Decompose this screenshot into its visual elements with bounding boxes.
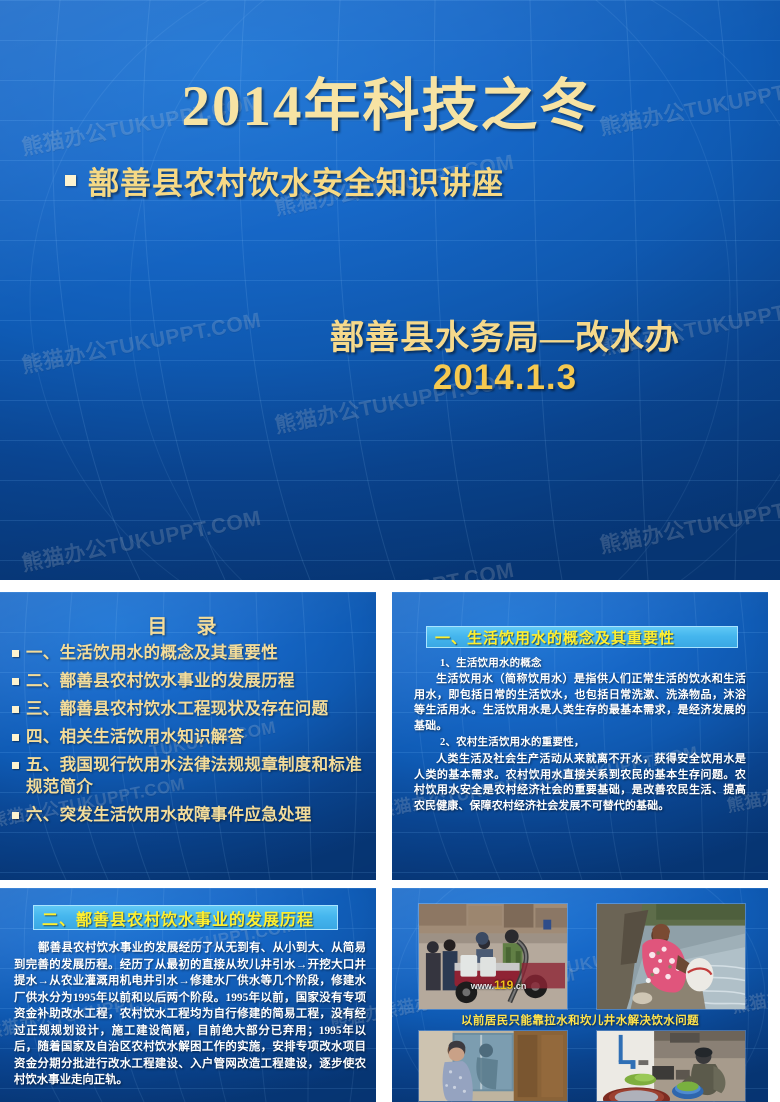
slide-3-heading-2: 2、农村生活饮用水的重要性， (440, 735, 740, 750)
square-bullet-icon (12, 812, 19, 819)
slide-3-section-header-label: 一、生活饮用水的概念及其重要性 (435, 627, 675, 648)
list-item[interactable]: 四、相关生活饮用水知识解答 (12, 726, 368, 747)
list-item[interactable]: 一、生活饮用水的概念及其重要性 (12, 642, 368, 663)
watermark: 熊猫办公TUKUPPT.COM (597, 484, 780, 560)
photo-water-hauling: www.119.cn (418, 903, 568, 1010)
list-item-label: 六、突发生活饮用水故障事件应急处理 (26, 804, 312, 825)
slide-3-paragraph-1: 生活饮用水（简称饮用水）是指供人们正常生活的饮水和生活用水，即包括日常的生活饮水… (414, 672, 746, 734)
slide-1-subtitle: 鄯善县农村饮水安全知识讲座 (88, 158, 504, 203)
list-item-label: 三、鄯善县农村饮水工程现状及存在问题 (26, 698, 328, 719)
list-item-label: 二、鄯善县农村饮水事业的发展历程 (26, 670, 295, 691)
slide-1-date: 2014.1.3 (290, 358, 720, 398)
slide-3-section-one[interactable]: TUKUPPT.COM 熊猫办公TUKUPPT.COM 熊猫办公TUKUPPT.… (392, 592, 768, 880)
slide-4-section-two[interactable]: TUKUPPT.COM 熊猫办公TUKUPPT.COM 熊猫办公TUKUPPT.… (0, 888, 376, 1102)
photo-tap-washing-vegetables (596, 1030, 746, 1102)
slide-2-contents-list: 一、生活饮用水的概念及其重要性 二、鄯善县农村饮水事业的发展历程 三、鄯善县农村… (12, 642, 368, 832)
watermark: 熊猫办公TUKUPPT.COM (19, 502, 263, 578)
stamp-suffix: .cn (513, 981, 526, 991)
watermark: 熊猫办公TUKUPPT.COM (272, 554, 516, 580)
slide-5-photo-caption: 以前居民只能靠拉水和坎儿井水解决饮水问题 (392, 1012, 768, 1028)
slide-3-section-header-bar: 一、生活饮用水的概念及其重要性 (426, 626, 738, 648)
slide-1-title-slide[interactable]: 熊猫办公TUKUPPT.COM 熊猫办公TUKUPPT.COM 熊猫办公TUKU… (0, 0, 780, 580)
photo-woman-indoors (418, 1030, 568, 1102)
stamp-number: 119 (494, 978, 513, 992)
list-item-label: 一、生活饮用水的概念及其重要性 (26, 642, 278, 663)
square-bullet-icon (12, 650, 19, 657)
slide-1-subtitle-row: 鄯善县农村饮水安全知识讲座 (65, 158, 504, 203)
ppt-preview-page: 熊猫办公TUKUPPT.COM 熊猫办公TUKUPPT.COM 熊猫办公TUKU… (0, 0, 780, 1102)
slide-1-title: 2014年科技之冬 (0, 60, 780, 142)
slide-3-heading-1: 1、生活饮用水的概念 (440, 656, 740, 671)
slide-4-section-header-label: 二、鄯善县农村饮水事业的发展历程 (42, 906, 314, 930)
slide-1-organization: 鄯善县水务局—改水办 (290, 310, 720, 359)
slide-3-paragraph-2: 人类生活及社会生产活动从来就离不开水，获得安全饮用水是人类的基本需求。农村饮用水… (414, 752, 746, 814)
list-item-label: 四、相关生活饮用水知识解答 (26, 726, 244, 747)
list-item-label: 五、我国现行饮用水法律法规规章制度和标准规范简介 (26, 754, 368, 796)
slide-4-section-header-bar: 二、鄯善县农村饮水事业的发展历程 (33, 905, 338, 930)
watermark: 熊猫办公TUKUPPT.COM (19, 304, 263, 380)
square-bullet-icon (12, 678, 19, 685)
list-item[interactable]: 三、鄯善县农村饮水工程现状及存在问题 (12, 698, 368, 719)
photo-watermark-stamp: www.119.cn (471, 978, 527, 992)
slide-4-paragraph: 鄯善县农村饮水事业的发展经历了从无到有、从小到大、从简易到完善的发展历程。经历了… (14, 940, 366, 1089)
square-bullet-icon (12, 706, 19, 713)
slide-5-photo-gallery[interactable]: TUKUPPT.COM 熊猫办公TUKUPPT.COM 熊猫办公TUKUPPT.… (392, 888, 768, 1102)
photo-karez-water-fetching (596, 903, 746, 1010)
list-item[interactable]: 六、突发生活饮用水故障事件应急处理 (12, 804, 368, 825)
list-item[interactable]: 二、鄯善县农村饮水事业的发展历程 (12, 670, 368, 691)
square-bullet-icon (65, 175, 76, 186)
stamp-prefix: www. (471, 981, 494, 991)
square-bullet-icon (12, 734, 19, 741)
slide-2-table-of-contents[interactable]: TUKUPPT.COM 熊猫办公TUKUPPT.COM 目 录 一、生活饮用水的… (0, 592, 376, 880)
square-bullet-icon (12, 762, 19, 769)
slide-2-heading: 目 录 (0, 610, 376, 639)
list-item[interactable]: 五、我国现行饮用水法律法规规章制度和标准规范简介 (12, 754, 368, 796)
